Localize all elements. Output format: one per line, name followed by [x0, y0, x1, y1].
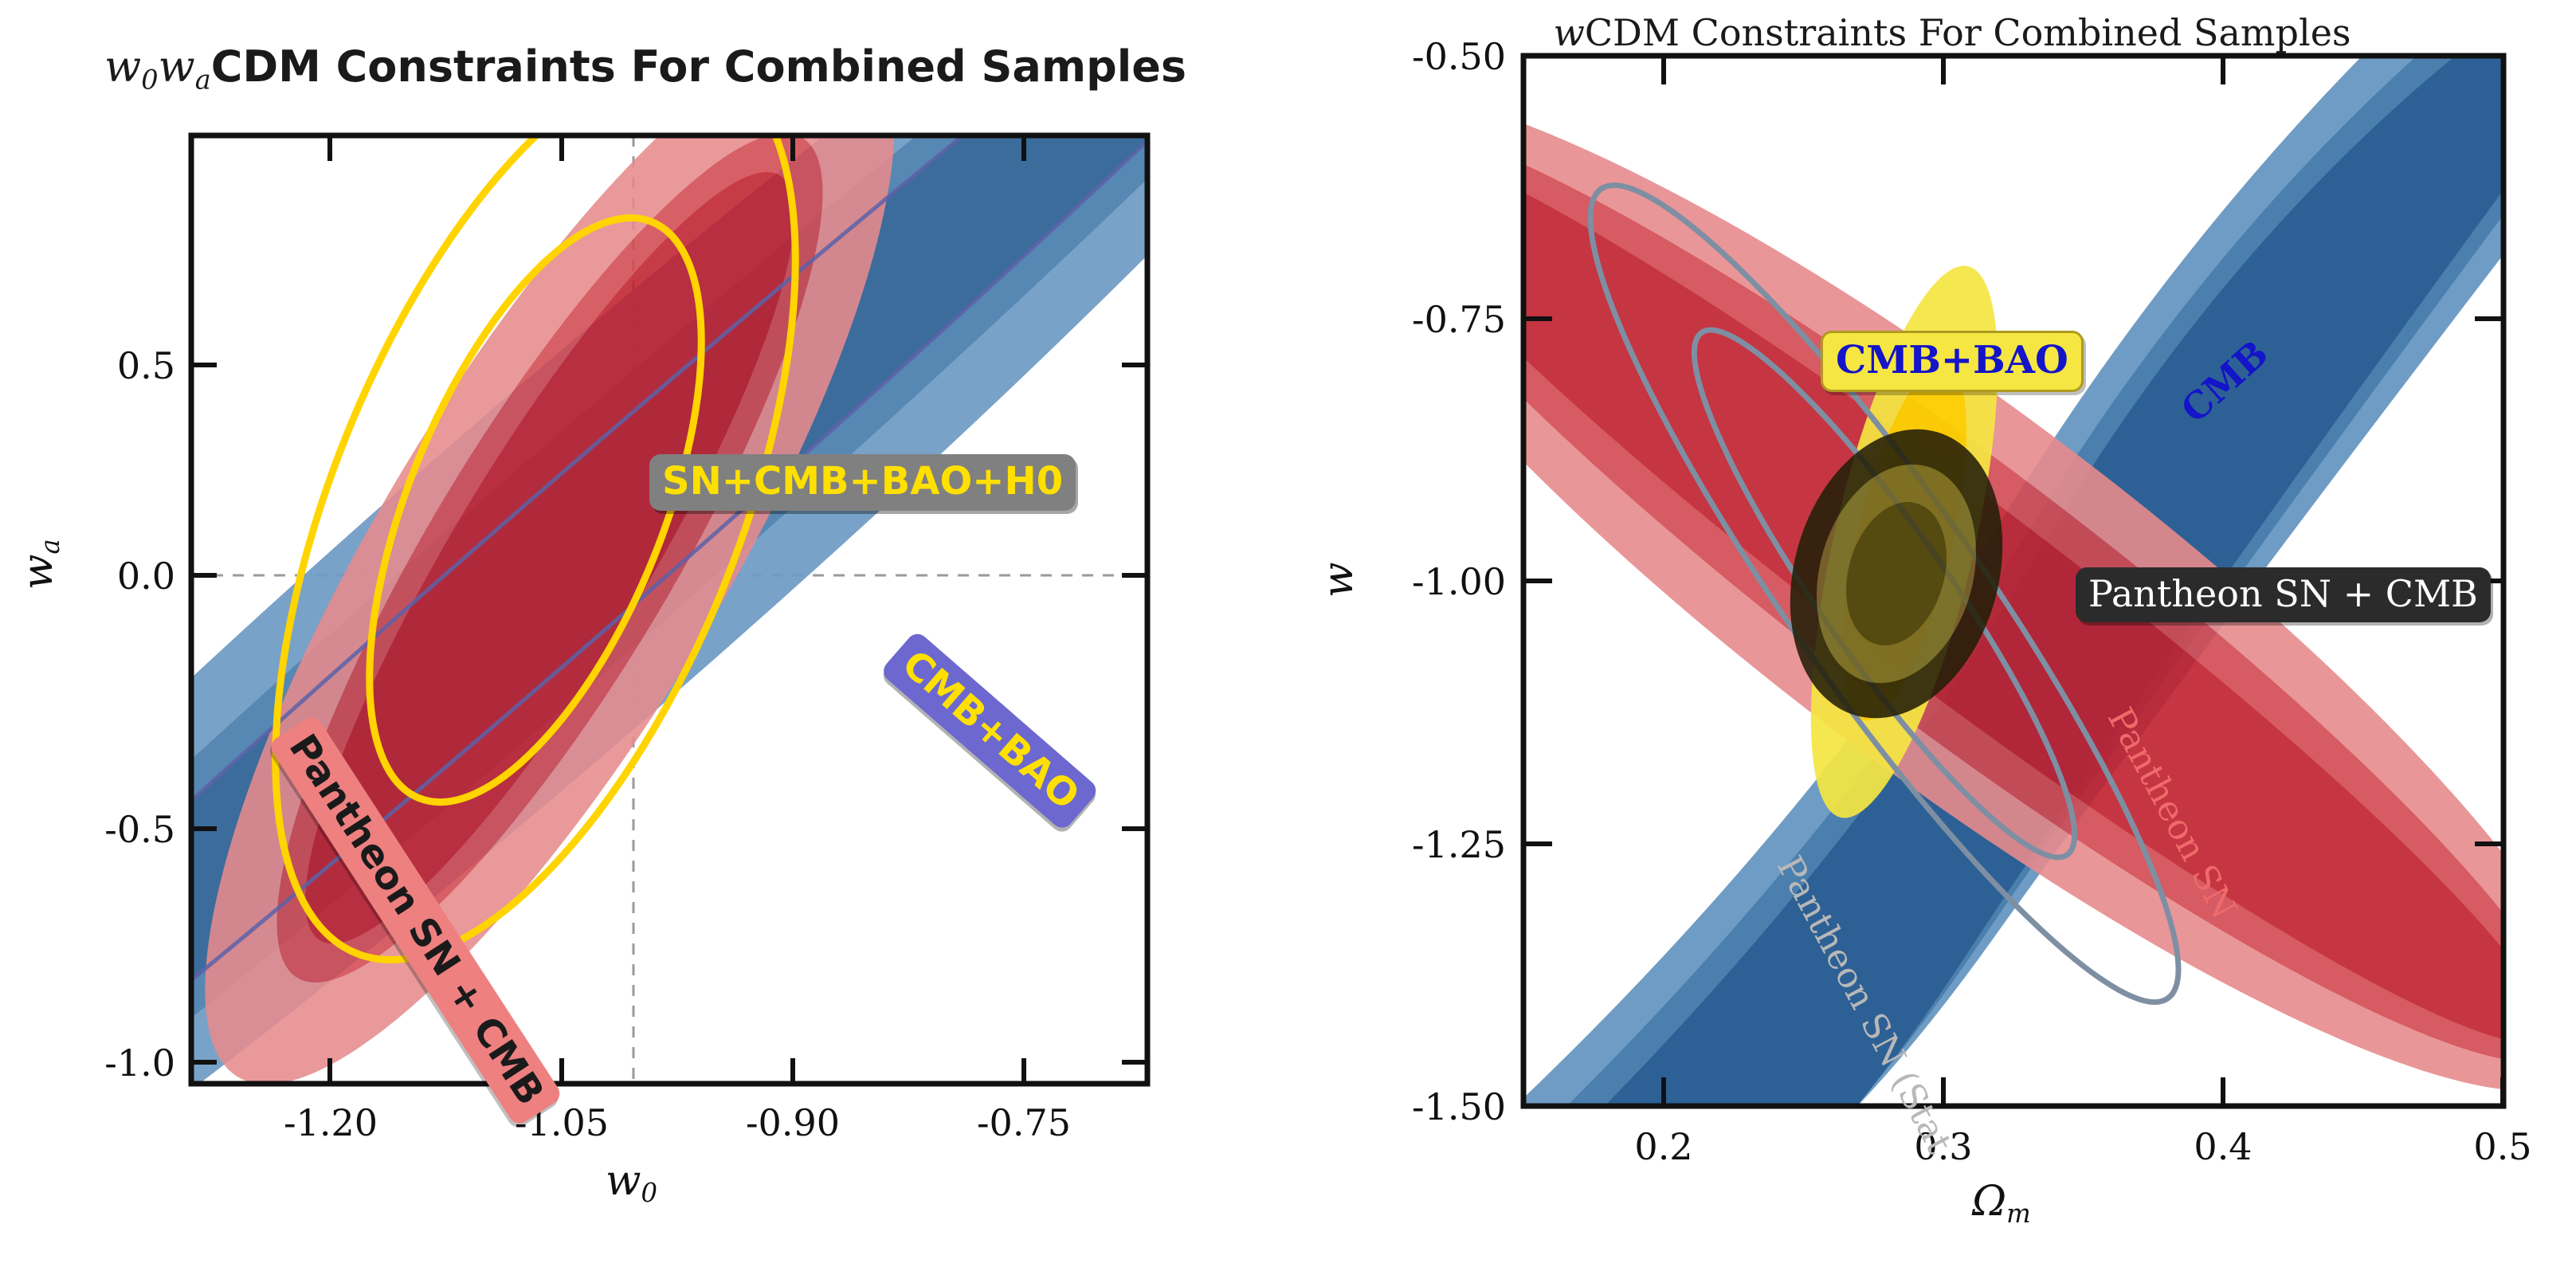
right-xtick-0: 0.2: [1600, 1125, 1727, 1168]
right-xaxis-label-sub: m: [2006, 1198, 2031, 1229]
left-ytick-2: -0.5: [56, 808, 175, 851]
right-annotation-cmb-bao: CMB+BAO: [1821, 331, 2084, 392]
left-yaxis-label: wa: [14, 539, 65, 590]
right-ytick-2: -1.00: [1355, 560, 1506, 603]
left-xaxis-label: w0: [606, 1157, 657, 1208]
left-ytick-3: -1.0: [56, 1041, 175, 1085]
left-annotation-sn-cmb-bao-h0: SN+CMB+BAO+H0: [649, 454, 1076, 511]
right-yaxis-label: w: [1315, 562, 1362, 598]
right-ytick-4: -1.50: [1355, 1085, 1506, 1128]
right-ytick-1: -0.75: [1355, 298, 1506, 341]
right-annotation-pantheon-sn-cmb: Pantheon SN + CMB: [2076, 567, 2491, 622]
left-ytick-1: 0.0: [72, 555, 175, 598]
figure-root: w0waCDM Constraints For Combined Samples: [0, 0, 2576, 1267]
right-xtick-2: 0.4: [2159, 1125, 2287, 1168]
left-xtick-3: -0.75: [956, 1101, 1092, 1144]
panel-wcdm: wCDM Constraints For Combined Samples: [1291, 0, 2576, 1267]
right-xtick-3: 0.5: [2439, 1125, 2566, 1168]
left-xaxis-label-sub: 0: [641, 1178, 658, 1208]
left-ytick-0: 0.5: [72, 344, 175, 387]
panel-w0wacdm: w0waCDM Constraints For Combined Samples: [0, 0, 1291, 1267]
right-ytick-3: -1.25: [1355, 823, 1506, 866]
left-xaxis-label-text: w: [606, 1157, 641, 1205]
left-yaxis-label-text: w: [14, 554, 62, 590]
right-xaxis-label-text: Ω: [1972, 1178, 2006, 1226]
left-plot-svg: [0, 0, 1291, 1267]
right-xaxis-label: Ωm: [1972, 1178, 2031, 1229]
left-yaxis-label-sub: a: [35, 539, 65, 554]
left-xtick-2: -0.90: [725, 1101, 861, 1144]
left-xtick-0: -1.20: [263, 1101, 398, 1144]
right-ytick-0: -0.50: [1355, 35, 1506, 78]
right-plot-svg: [1291, 0, 2576, 1267]
